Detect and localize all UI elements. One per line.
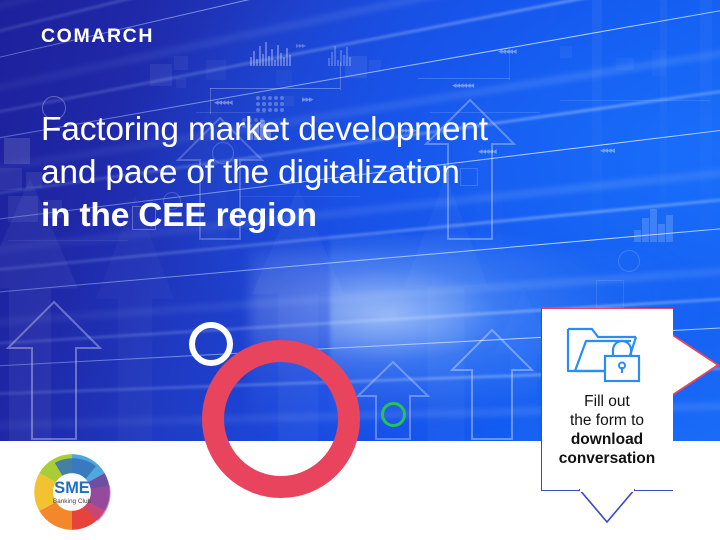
callout-line-2: the form to: [543, 411, 671, 430]
comarch-logo: COMARCH: [41, 25, 154, 48]
folder-lock-icon: [565, 323, 647, 385]
deco-block: [0, 168, 22, 190]
callout-line-4: conversation: [559, 450, 655, 467]
white-ring-decoration: [189, 322, 233, 366]
callout-arrow-tip-outline: [670, 333, 720, 397]
headline-line-1: Factoring market development: [41, 108, 601, 151]
chevron-left-deco: ◂◂◂◂◂: [498, 48, 516, 57]
callout-text: Fill out the form to download conversati…: [543, 392, 671, 468]
arrow-outline-deco: [6, 300, 102, 441]
green-ring-decoration: [381, 402, 406, 427]
deco-block: [560, 46, 572, 58]
sme-banking-club-logo[interactable]: SME Banking Club: [29, 449, 115, 535]
deco-line: [418, 78, 510, 79]
deco-block: [616, 58, 634, 70]
deco-block: [206, 60, 226, 80]
headline-line-3: in the CEE region: [41, 194, 601, 237]
callout-tail: [579, 489, 635, 525]
deco-block: [369, 60, 381, 72]
callout-line-3: download: [571, 431, 643, 448]
circle-deco: [618, 250, 640, 272]
deco-block: [284, 96, 294, 106]
deco-line: [340, 62, 341, 90]
callout-line-1: Fill out: [543, 392, 671, 411]
deco-line: [210, 88, 340, 89]
deco-block: [150, 64, 172, 86]
sme-logo-title: SME: [54, 479, 89, 497]
deco-block: [176, 78, 186, 88]
deco-block: [4, 138, 30, 164]
chevron-left-deco: ◂◂◂◂: [600, 147, 614, 156]
pink-ring-decoration: [202, 340, 360, 498]
chevron-right-deco: ▸▸▸: [296, 42, 305, 50]
headline-line-2: and pace of the digitalization: [41, 151, 601, 194]
deco-block: [174, 56, 188, 70]
chevron-left-deco: ◂◂◂◂◂◂: [452, 82, 473, 91]
bar-chart-deco: [634, 208, 673, 242]
poster-canvas: ◂◂◂◂◂ ▸▸▸ ▸▸▸▸▸ ◂◂◂◂◂◂ ◂◂◂◂◂ ◂◂◂◂ ◂◂◂◂◂ …: [0, 0, 720, 540]
arrow-outline-deco: [356, 360, 430, 441]
sme-logo-subtitle: Banking Club: [53, 498, 92, 505]
deco-line: [560, 100, 710, 101]
bar-chart-deco: [328, 44, 351, 66]
chevron-right-deco: ▸▸▸: [302, 96, 313, 105]
download-callout[interactable]: Fill out the form to download conversati…: [541, 308, 673, 491]
bar-chart-deco: [250, 40, 291, 66]
page-title: Factoring market development and pace of…: [41, 108, 601, 237]
arrow-outline-deco: [450, 328, 534, 441]
deco-block: [276, 70, 292, 86]
